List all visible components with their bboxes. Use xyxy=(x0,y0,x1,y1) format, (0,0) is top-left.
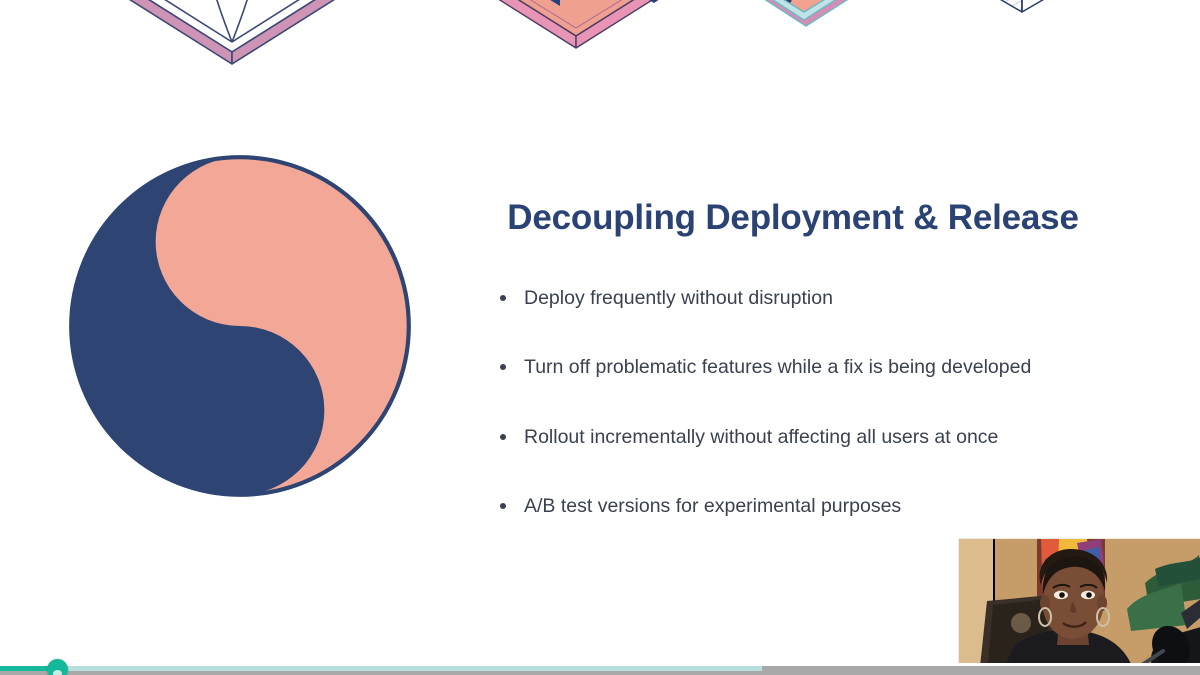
list-item: Turn off problematic features while a fi… xyxy=(500,355,1160,380)
list-item: Rollout incrementally without affecting … xyxy=(500,425,1160,450)
laptop-keyboard-illustration xyxy=(430,0,722,48)
list-item-label: Turn off problematic features while a fi… xyxy=(524,356,1031,378)
bullet-dot-icon xyxy=(500,434,506,440)
yin-yang-icon xyxy=(66,152,414,500)
list-item: Deploy frequently without disruption xyxy=(500,286,1160,311)
video-player-stage: Decoupling Deployment & Release Deploy f… xyxy=(0,0,1200,675)
list-item-label: Deploy frequently without disruption xyxy=(524,287,833,309)
bullet-dot-icon xyxy=(500,364,506,370)
bullet-list: Deploy frequently without disruption Tur… xyxy=(470,286,1160,519)
open-book-illustration xyxy=(86,0,378,64)
list-item-label: A/B test versions for experimental purpo… xyxy=(524,495,901,517)
bullet-dot-icon xyxy=(500,503,506,509)
shipping-box-illustration xyxy=(902,0,1187,12)
list-item: A/B test versions for experimental purpo… xyxy=(500,494,1160,519)
presenter-webcam-feed[interactable]: NO LIMIT xyxy=(958,538,1200,675)
smartphone-illustration xyxy=(736,0,878,26)
bullet-dot-icon xyxy=(500,295,506,301)
page-title: Decoupling Deployment & Release xyxy=(470,198,1160,238)
slide-text-column: Decoupling Deployment & Release Deploy f… xyxy=(470,198,1160,519)
progress-buffered xyxy=(0,666,762,671)
progress-handle[interactable] xyxy=(47,659,68,675)
video-progress-bar[interactable] xyxy=(0,663,1200,675)
list-item-label: Rollout incrementally without affecting … xyxy=(524,426,998,448)
header-illustration-strip xyxy=(0,0,1200,92)
